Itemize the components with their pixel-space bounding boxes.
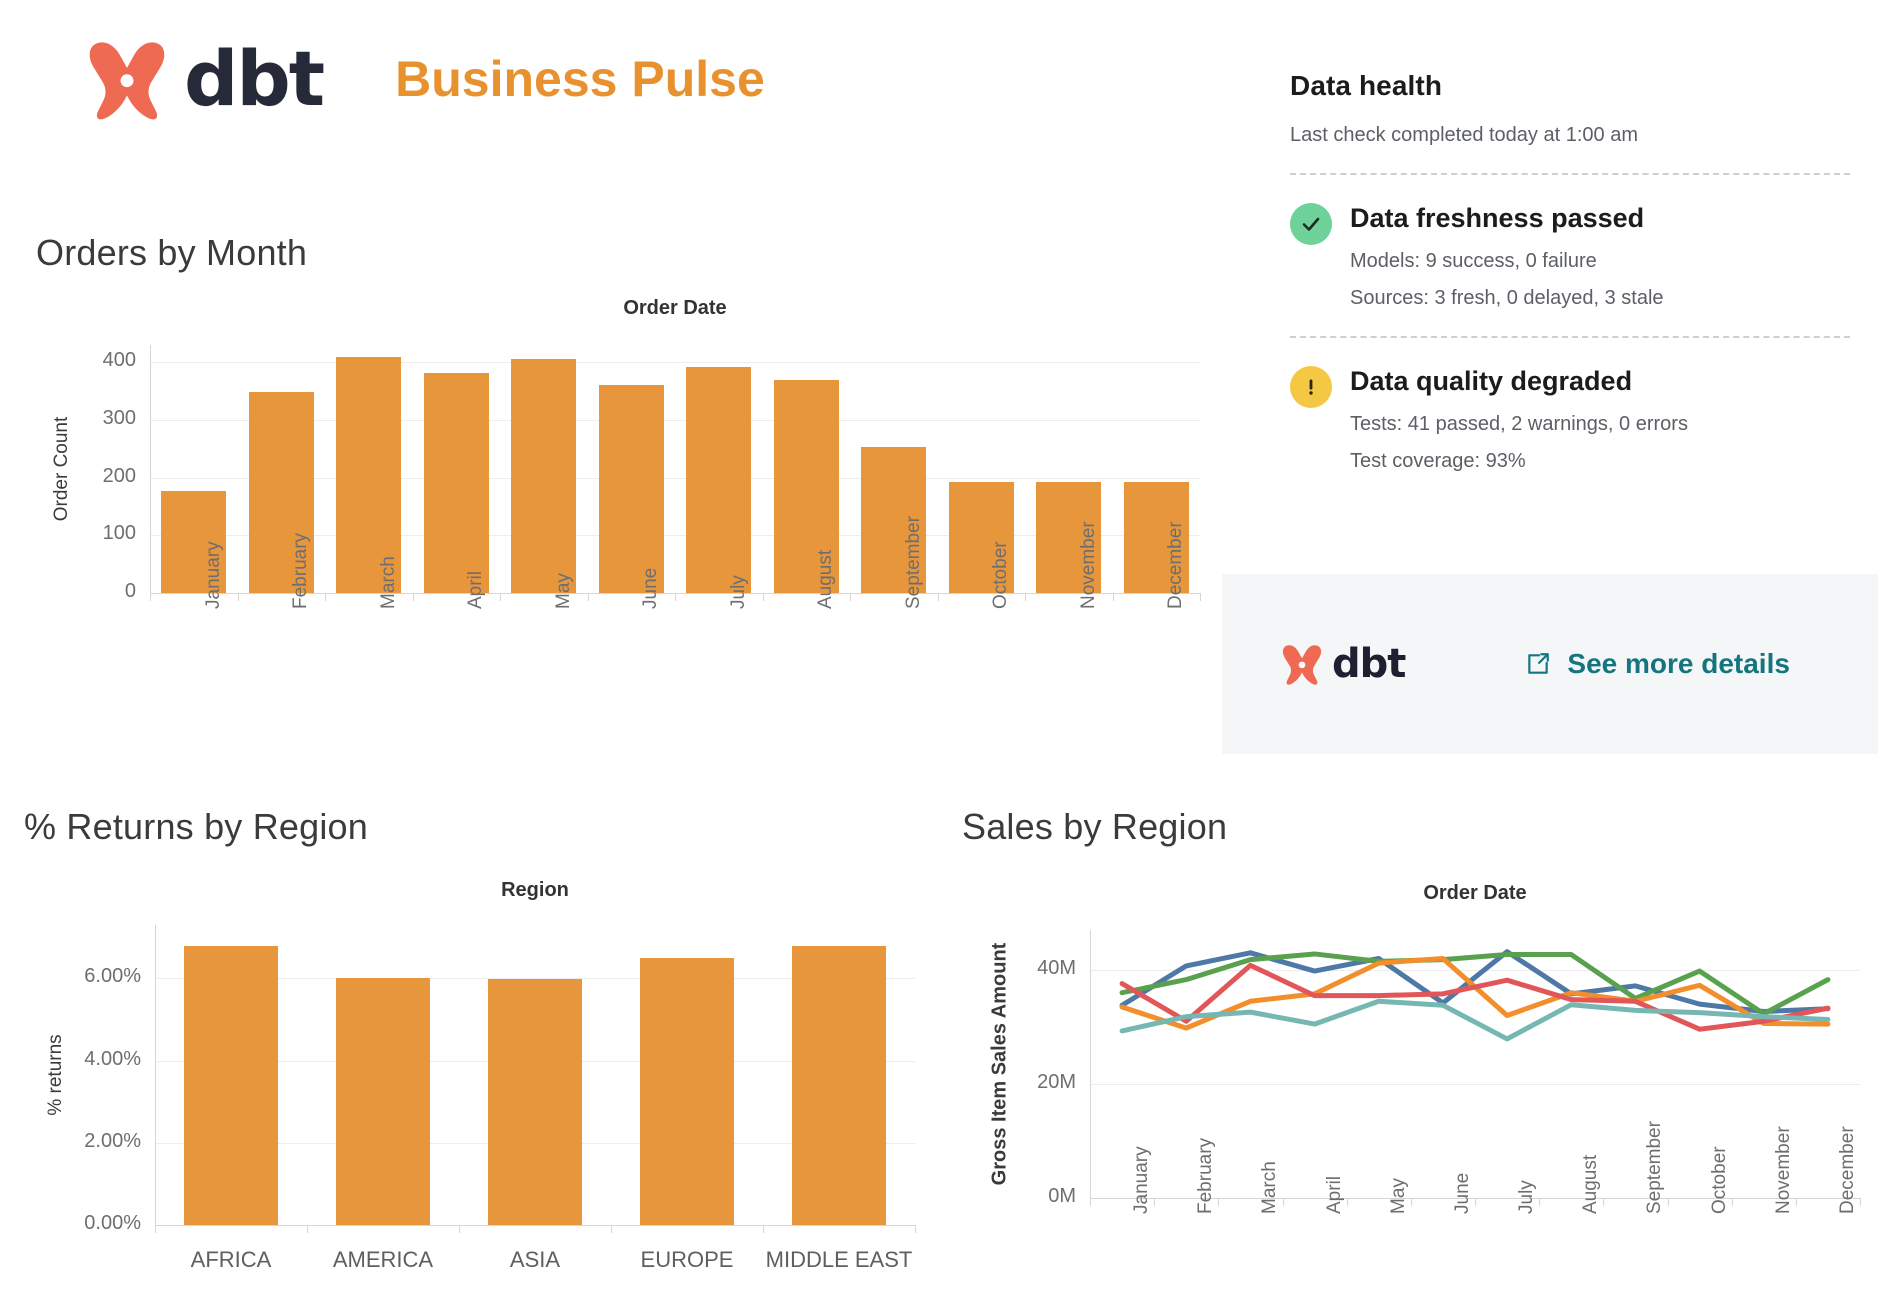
y-axis-tick: 20M [1037, 1071, 1076, 1094]
x-tick-mark [1218, 1198, 1219, 1206]
x-axis-tick: April [1324, 1176, 1346, 1214]
exclamation-glyph [1299, 375, 1323, 399]
x-axis-tick: April [465, 571, 487, 609]
orders-by-month-chart: Order Date Order Count 0100200300400Janu… [0, 270, 1225, 720]
x-axis-tick: October [1709, 1146, 1731, 1214]
x-tick-mark [413, 593, 414, 601]
y-axis-tick: 300 [103, 407, 136, 430]
x-axis-tick: June [640, 568, 662, 609]
x-axis-tick: ASIA [510, 1247, 560, 1273]
returns-plot-area: 0.00%2.00%4.00%6.00%AFRICAAMERICAASIAEUR… [155, 925, 915, 1225]
health-item-title: Data quality degraded [1350, 366, 1688, 397]
x-axis-tick: November [1773, 1126, 1795, 1214]
warning-circle-icon [1290, 366, 1332, 408]
see-more-details-link[interactable]: See more details [1525, 648, 1790, 680]
health-item-body: Data quality degraded Tests: 41 passed, … [1350, 366, 1688, 473]
x-tick-mark [1347, 1198, 1348, 1206]
bar-july[interactable] [686, 367, 751, 593]
x-tick-mark [1860, 1198, 1861, 1206]
orders-plot-area: 0100200300400JanuaryFebruaryMarchAprilMa… [150, 345, 1200, 593]
y-axis-tick: 0.00% [84, 1212, 141, 1235]
y-axis-tick: 0M [1048, 1185, 1076, 1208]
x-tick-mark [763, 1225, 764, 1233]
x-axis-tick: MIDDLE EAST [766, 1247, 913, 1273]
y-axis-tick: 0 [125, 580, 136, 603]
x-axis-tick: March [1259, 1161, 1281, 1214]
x-tick-mark [1411, 1198, 1412, 1206]
dbt-logo: dbt [84, 36, 323, 122]
returns-y-axis-label: % returns [45, 1034, 67, 1115]
x-tick-mark [500, 593, 501, 601]
x-axis-tick: September [1644, 1121, 1666, 1214]
x-axis-tick: August [1580, 1155, 1602, 1214]
data-health-panel: Data health Last check completed today a… [1290, 70, 1850, 473]
x-tick-mark [238, 593, 239, 601]
bar-america[interactable] [336, 978, 430, 1225]
x-tick-mark [611, 1225, 612, 1233]
x-tick-mark [1200, 593, 1201, 601]
returns-by-region-chart: Region % returns 0.00%2.00%4.00%6.00%AFR… [0, 845, 960, 1305]
health-item-body: Data freshness passed Models: 9 success,… [1350, 203, 1664, 310]
health-item-quality: Data quality degraded Tests: 41 passed, … [1290, 366, 1850, 473]
x-tick-mark [588, 593, 589, 601]
x-axis-tick: November [1078, 521, 1100, 609]
x-tick-mark [1796, 1198, 1797, 1206]
x-axis-tick: February [1195, 1138, 1217, 1214]
bar-europe[interactable] [640, 958, 734, 1225]
sales-section-title: Sales by Region [962, 806, 1227, 848]
x-axis-tick: December [1165, 521, 1187, 609]
x-tick-mark [763, 593, 764, 601]
y-axis-tick: 400 [103, 349, 136, 372]
see-more-details-card[interactable]: dbt See more details [1222, 574, 1878, 754]
health-item-line: Tests: 41 passed, 2 warnings, 0 errors [1350, 413, 1688, 436]
dashboard-page: dbt Business Pulse Orders by Month % Ret… [0, 0, 1878, 1312]
health-item-line: Test coverage: 93% [1350, 450, 1688, 473]
orders-chart-caption: Order Date [623, 297, 726, 320]
x-axis-tick: March [378, 556, 400, 609]
x-axis-tick: January [203, 541, 225, 609]
cta-dbt-wordmark: dbt [1332, 641, 1405, 687]
orders-y-axis-label: Order Count [51, 417, 73, 522]
check-glyph [1299, 212, 1323, 236]
y-axis-tick: 100 [103, 522, 136, 545]
x-tick-mark [325, 593, 326, 601]
x-axis-tick: February [290, 533, 312, 609]
x-tick-mark [155, 1225, 156, 1233]
health-item-title: Data freshness passed [1350, 203, 1664, 234]
x-tick-mark [1539, 1198, 1540, 1206]
x-tick-mark [1090, 1198, 1091, 1206]
bar-middle-east[interactable] [792, 946, 886, 1225]
see-more-details-label: See more details [1567, 648, 1790, 680]
bar-asia[interactable] [488, 979, 582, 1225]
x-axis-tick: EUROPE [641, 1247, 734, 1273]
bar-africa[interactable] [184, 946, 278, 1225]
divider [1290, 336, 1850, 338]
x-axis-tick: August [815, 550, 837, 609]
x-tick-mark [1732, 1198, 1733, 1206]
dbt-x-logo-icon [1280, 642, 1324, 686]
y-axis-tick: 2.00% [84, 1130, 141, 1153]
last-check-text: Last check completed today at 1:00 am [1290, 124, 1850, 147]
health-item-freshness: Data freshness passed Models: 9 success,… [1290, 203, 1850, 310]
x-tick-mark [675, 593, 676, 601]
y-axis-tick: 4.00% [84, 1048, 141, 1071]
x-tick-mark [850, 593, 851, 601]
x-tick-mark [1154, 1198, 1155, 1206]
health-item-line: Models: 9 success, 0 failure [1350, 250, 1664, 273]
x-tick-mark [1668, 1198, 1669, 1206]
x-axis-tick: AFRICA [191, 1247, 272, 1273]
external-link-icon [1525, 651, 1551, 677]
x-tick-mark [1113, 593, 1114, 601]
bar-may[interactable] [511, 359, 576, 593]
health-item-line: Sources: 3 fresh, 0 delayed, 3 stale [1350, 287, 1664, 310]
data-health-heading: Data health [1290, 70, 1850, 102]
x-axis-tick: May [553, 573, 575, 609]
dbt-x-logo-icon [84, 36, 170, 122]
sales-y-axis-label: Gross Item Sales Amount [989, 943, 1012, 1186]
x-axis-tick: May [1388, 1178, 1410, 1214]
x-axis-line [155, 1225, 915, 1226]
divider [1290, 173, 1850, 175]
x-tick-mark [915, 1225, 916, 1233]
sales-chart-caption: Order Date [1423, 882, 1526, 905]
sales-by-region-chart: Order Date Gross Item Sales Amount 0M20M… [960, 845, 1878, 1305]
orders-section-title: Orders by Month [36, 232, 307, 274]
y-axis-tick: 200 [103, 465, 136, 488]
check-circle-icon [1290, 203, 1332, 245]
x-tick-mark [150, 593, 151, 601]
x-tick-mark [307, 1225, 308, 1233]
bar-june[interactable] [599, 385, 664, 593]
x-axis-tick: June [1452, 1173, 1474, 1214]
y-axis-line [150, 345, 151, 593]
cta-content: dbt See more details [1222, 641, 1878, 687]
cta-dbt-logo: dbt [1280, 641, 1405, 687]
dbt-wordmark: dbt [184, 41, 323, 117]
returns-chart-caption: Region [501, 879, 569, 902]
sales-plot-area: 0M20M40MJanuaryFebruaryMarchAprilMayJune… [1090, 930, 1860, 1198]
returns-section-title: % Returns by Region [24, 806, 368, 848]
page-title: Business Pulse [395, 50, 765, 108]
x-axis-tick: July [728, 575, 750, 609]
x-axis-tick: December [1837, 1126, 1859, 1214]
dashboard-header: dbt Business Pulse [84, 36, 765, 122]
x-tick-mark [938, 593, 939, 601]
y-axis-tick: 6.00% [84, 965, 141, 988]
bar-april[interactable] [424, 373, 489, 593]
x-axis-tick: October [990, 541, 1012, 609]
x-tick-mark [1025, 593, 1026, 601]
y-axis-tick: 40M [1037, 957, 1076, 980]
x-axis-tick: July [1516, 1180, 1538, 1214]
x-axis-tick: AMERICA [333, 1247, 433, 1273]
x-tick-mark [1283, 1198, 1284, 1206]
gridline [150, 362, 1200, 363]
x-tick-mark [1475, 1198, 1476, 1206]
x-tick-mark [1603, 1198, 1604, 1206]
y-axis-line [155, 925, 156, 1225]
x-axis-tick: January [1131, 1146, 1153, 1214]
x-axis-tick: September [903, 516, 925, 609]
x-tick-mark [459, 1225, 460, 1233]
